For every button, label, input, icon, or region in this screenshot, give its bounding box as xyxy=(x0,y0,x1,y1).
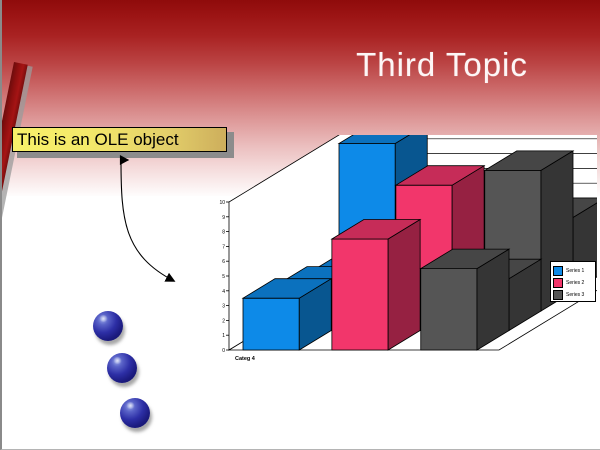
bar-front-face xyxy=(421,269,477,350)
ole-callout-label: This is an OLE object xyxy=(17,130,179,150)
y-axis-tick-label: 10 xyxy=(219,200,225,206)
legend-swatch xyxy=(553,266,563,276)
y-axis-tick-label: 4 xyxy=(222,289,225,295)
y-axis-tick-label: 7 xyxy=(222,244,225,250)
y-axis-tick-label: 6 xyxy=(222,259,225,265)
ole-object-callout[interactable]: This is an OLE object xyxy=(12,127,227,152)
y-axis-tick-label: 3 xyxy=(222,304,225,310)
bar-front-face xyxy=(243,298,299,350)
bar-front-face xyxy=(332,239,388,350)
legend-row: Series 2 xyxy=(553,277,593,288)
blue-sphere xyxy=(107,353,137,383)
bar-side-face xyxy=(388,220,420,351)
legend-label: Series 3 xyxy=(566,291,584,299)
y-axis-tick-label: 5 xyxy=(222,274,225,280)
legend-row: Series 3 xyxy=(553,289,593,300)
chart-legend: Series 1Series 2Series 3 xyxy=(550,261,596,302)
legend-label: Series 2 xyxy=(566,279,584,287)
legend-row: Series 1 xyxy=(553,265,593,276)
slide-canvas: Third Topic This is an OLE object Main t… xyxy=(0,0,600,450)
y-axis-tick-label: 1 xyxy=(222,333,225,339)
y-axis-tick-label: 0 xyxy=(222,348,225,354)
y-axis-tick-label: 8 xyxy=(222,230,225,236)
blue-sphere xyxy=(93,311,123,341)
legend-swatch xyxy=(553,278,563,288)
y-axis-tick-label: 2 xyxy=(222,318,225,324)
curved-arrow-connector xyxy=(102,150,212,290)
legend-label: Series 1 xyxy=(566,267,584,275)
category-axis-label: Categ 4 xyxy=(235,356,256,362)
bar-chart[interactable]: Main title 012345678910Categ 1Categ 2Cat… xyxy=(207,135,597,425)
chart-plot-area: 012345678910Categ 1Categ 2Categ 3Categ 4 xyxy=(207,135,597,425)
page-title: Third Topic xyxy=(302,48,582,83)
blue-sphere xyxy=(120,398,150,428)
legend-swatch xyxy=(553,290,563,300)
y-axis-tick-label: 9 xyxy=(222,215,225,221)
